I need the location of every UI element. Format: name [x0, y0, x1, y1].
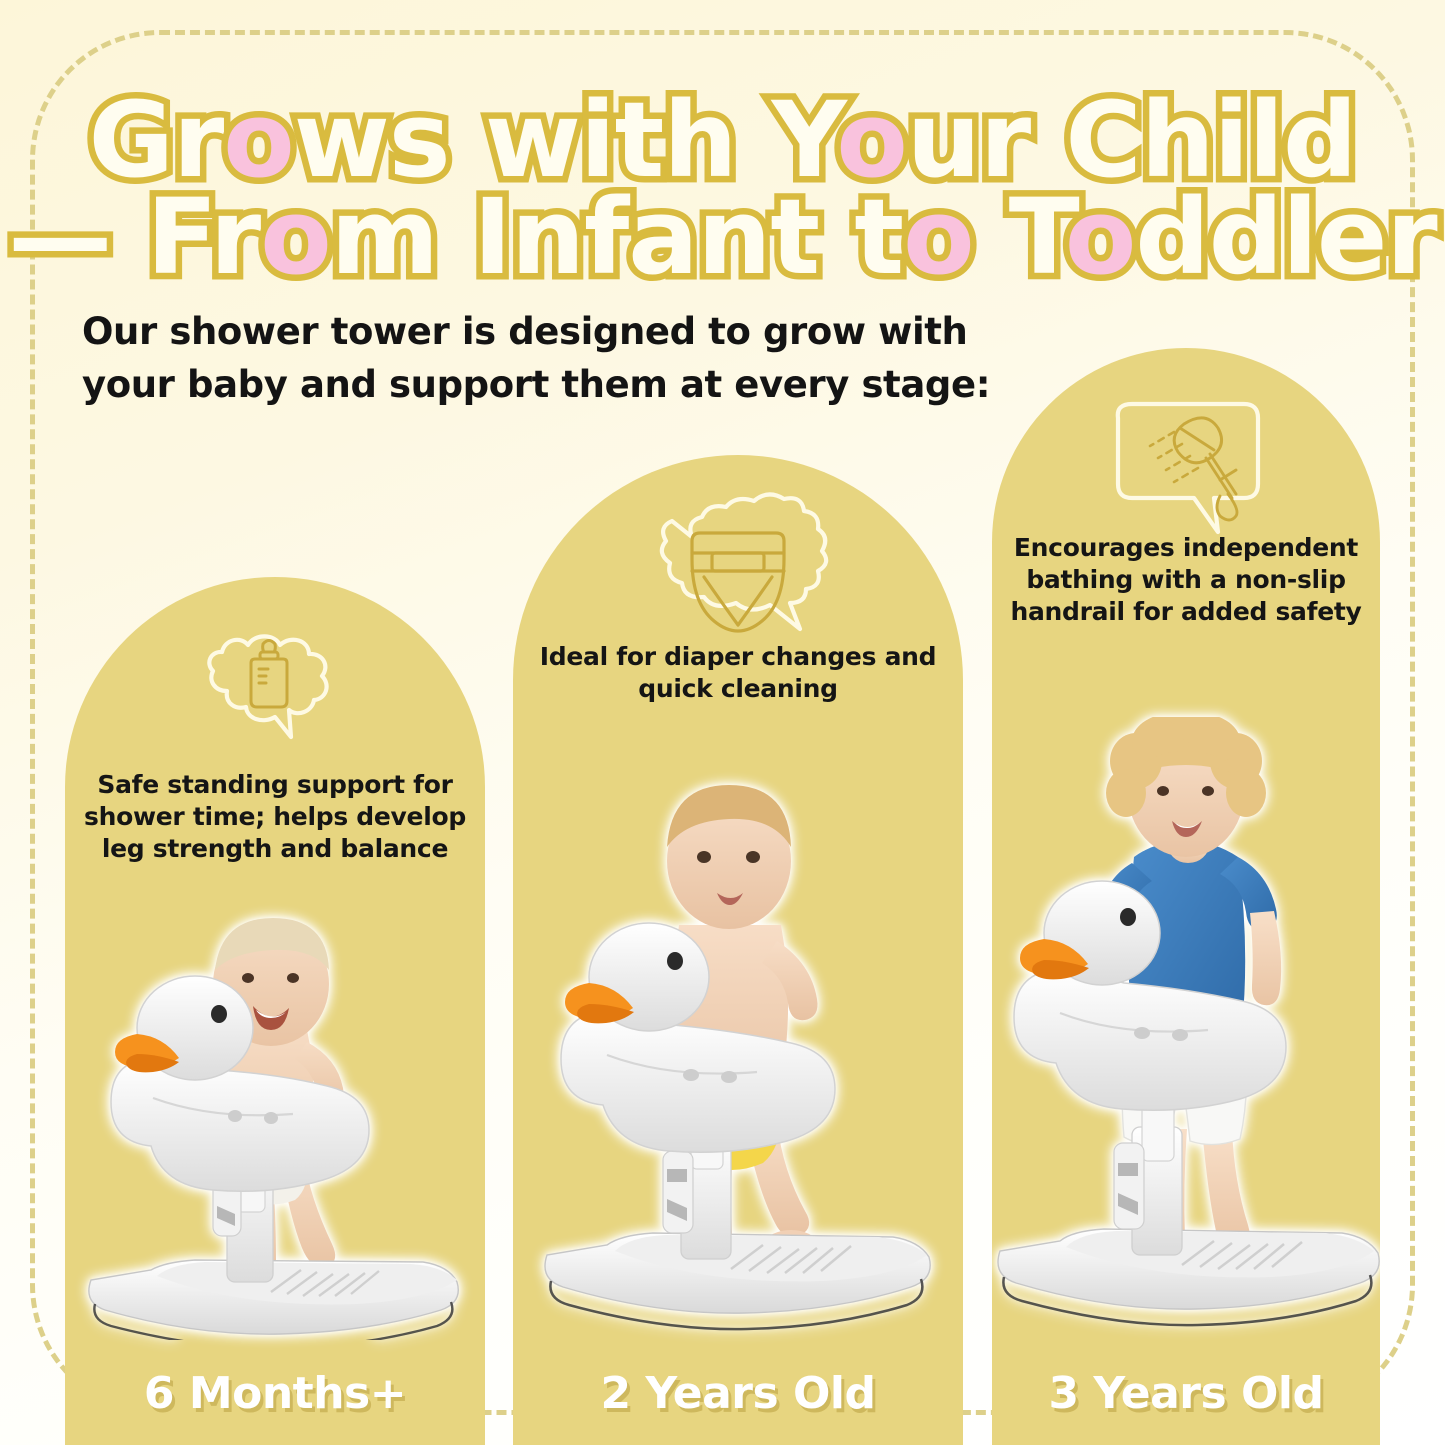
shower-head-icon	[1088, 388, 1284, 548]
product-photo-2-years	[533, 775, 943, 1335]
page-title: Grows with Your Child — From Infant to T…	[0, 92, 1445, 285]
product-photo-6-months	[75, 910, 475, 1340]
headline-text: ddler	[1135, 176, 1436, 298]
stage-card-2-years: Ideal for diaper changes and quick clean…	[513, 455, 963, 1445]
headline-accent-letter: o	[903, 176, 973, 298]
headline-accent-letter: o	[260, 176, 330, 298]
headline-accent-letter: o	[1065, 176, 1135, 298]
stage-age-label: 3 Years Old	[992, 1368, 1380, 1419]
subtitle-text: Our shower tower is designed to grow wit…	[82, 306, 1012, 411]
stage-caption: Ideal for diaper changes and quick clean…	[513, 641, 963, 705]
product-photo-3-years	[992, 717, 1380, 1337]
stage-caption: Encourages independent bathing with a no…	[992, 532, 1380, 628]
stage-age-label: 2 Years Old	[513, 1368, 963, 1419]
stage-age-label: 6 Months+	[65, 1368, 485, 1419]
stage-card-6-months: Safe standing support for shower time; h…	[65, 577, 485, 1445]
baby-bottle-icon	[175, 625, 375, 785]
headline-line-2: — From Infant to Toddler	[0, 189, 1445, 286]
stage-caption: Safe standing support for shower time; h…	[65, 769, 485, 865]
headline-text: T	[974, 176, 1065, 298]
stage-card-3-years: Encourages independent bathing with a no…	[992, 348, 1380, 1445]
headline-line-1: Grows with Your Child	[0, 92, 1445, 189]
headline-text: m Infant t	[331, 176, 903, 298]
diaper-icon	[634, 497, 842, 657]
headline-text: — Fr	[8, 176, 260, 298]
product-infographic-poster: Grows with Your Child — From Infant to T…	[0, 0, 1445, 1445]
